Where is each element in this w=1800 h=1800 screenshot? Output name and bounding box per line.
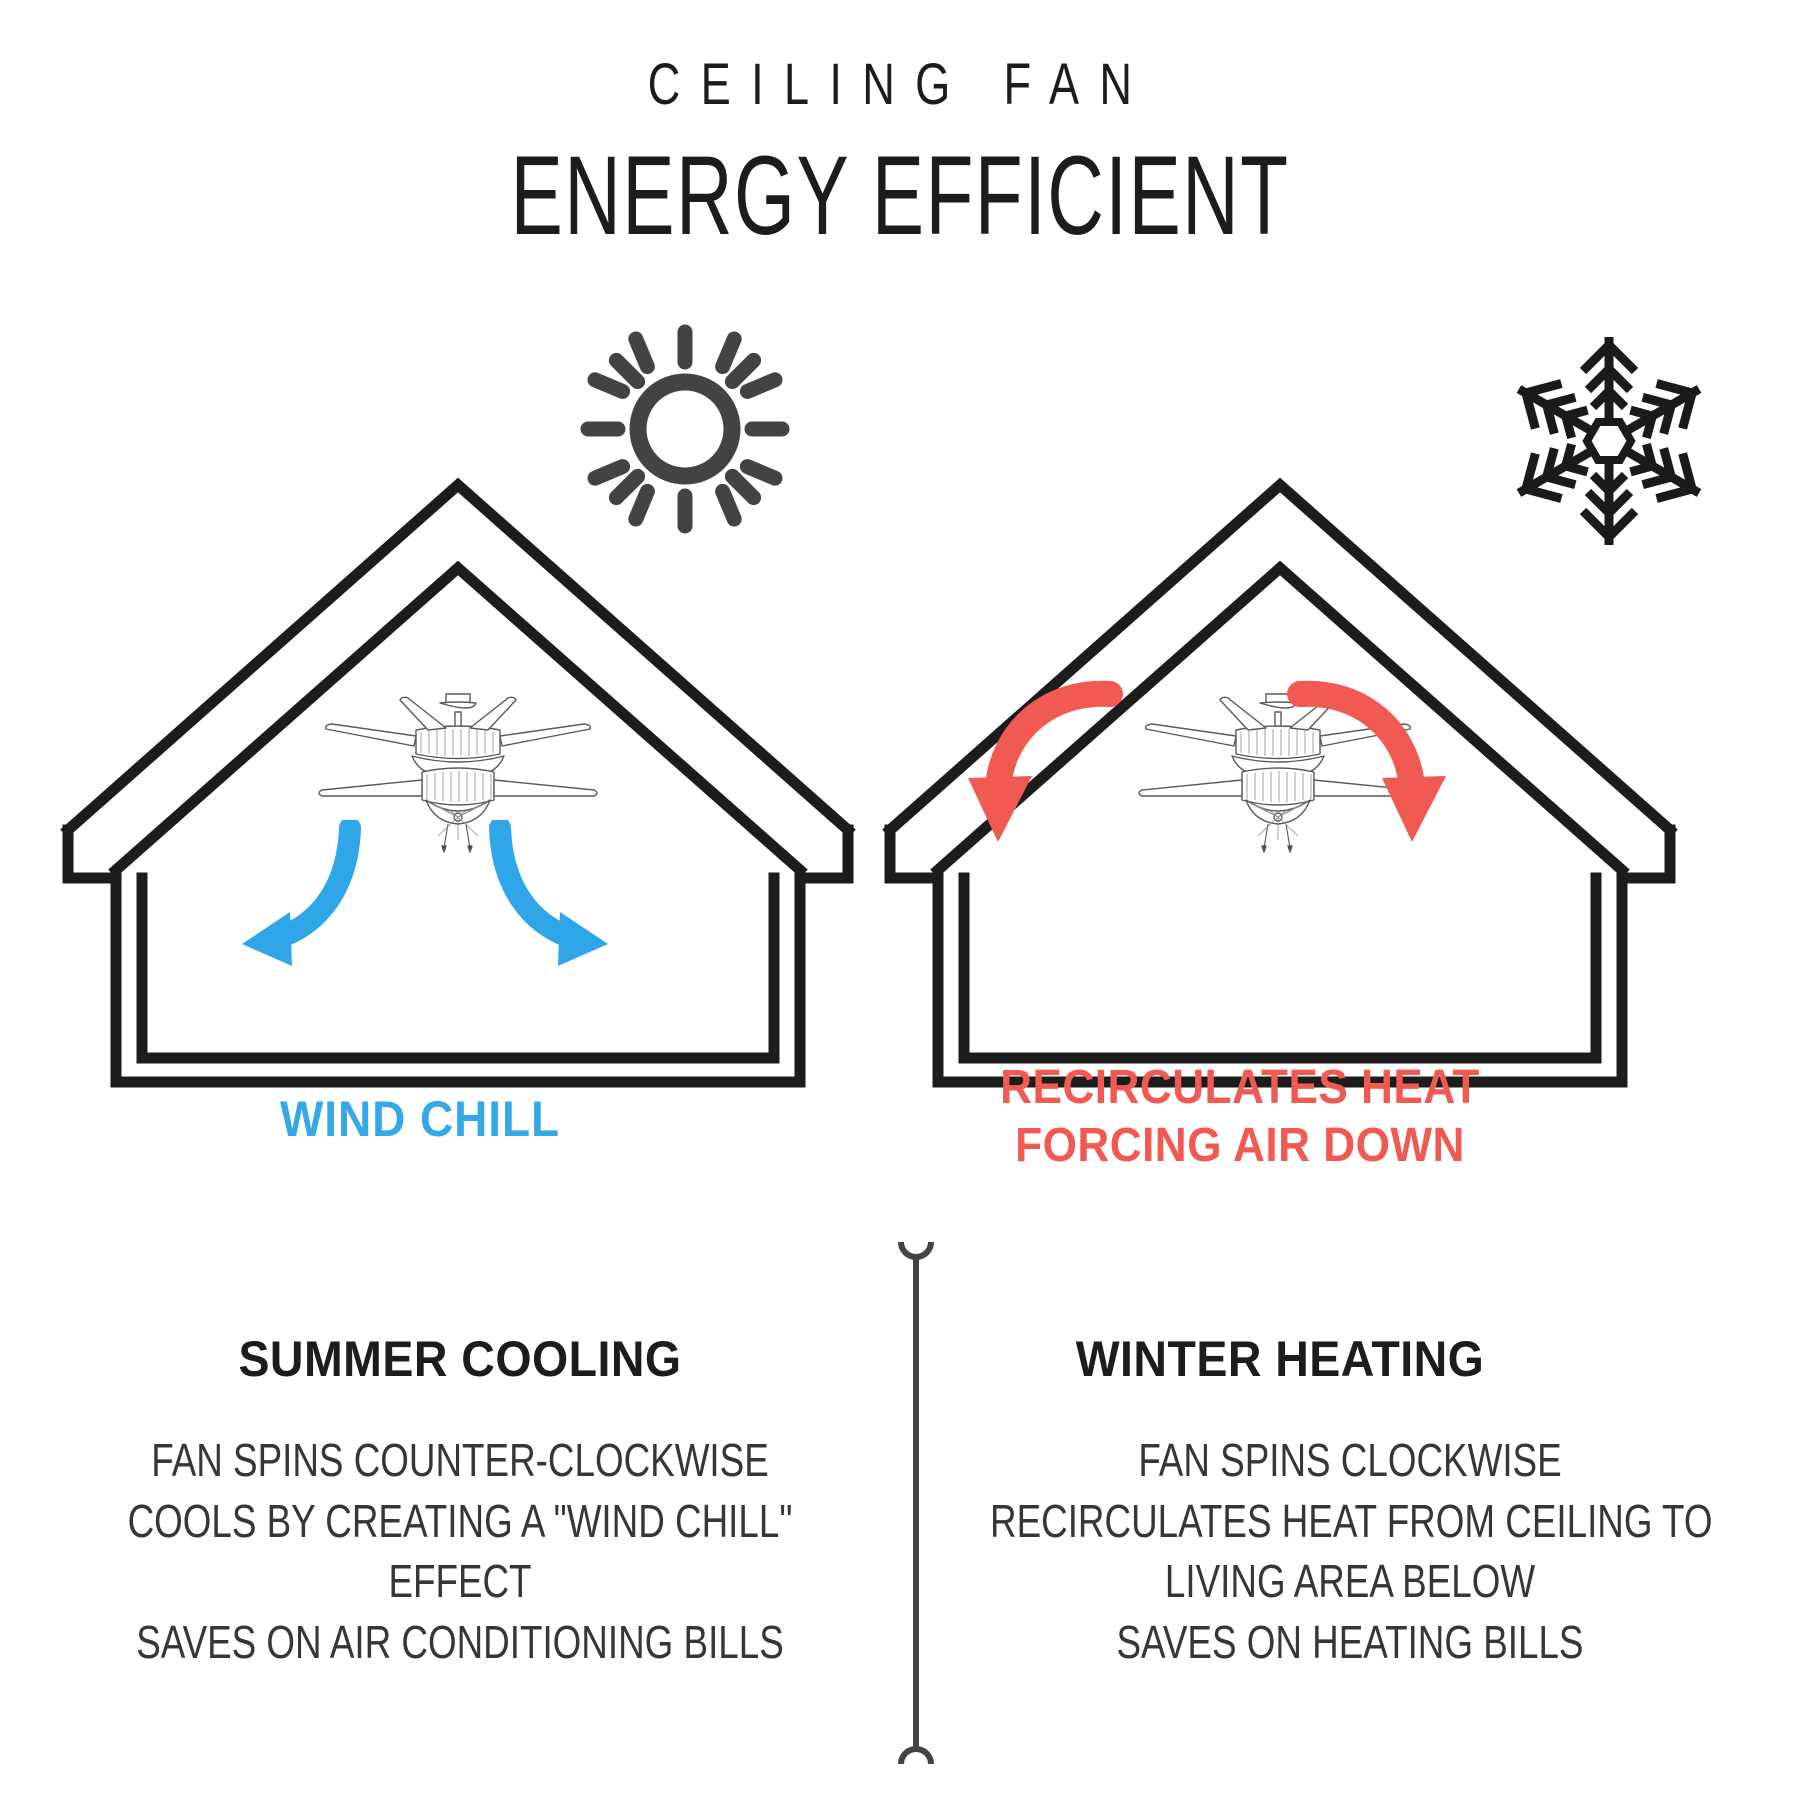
summer-callout-line-1: WIND CHILL xyxy=(280,1091,560,1147)
summer-description-line-1: FAN SPINS COUNTER-CLOCKWISE xyxy=(100,1430,820,1491)
summer-description-line-2: COOLS BY CREATING A "WIND CHILL" xyxy=(100,1491,820,1552)
winter-callout-line-1: RECIRCULATES HEAT xyxy=(1000,1061,1480,1114)
winter-callout-line-2: FORCING AIR DOWN xyxy=(964,1120,1516,1172)
summer-description-line-3: EFFECT xyxy=(100,1551,820,1612)
summer-description: FAN SPINS COUNTER-CLOCKWISE COOLS BY CRE… xyxy=(100,1430,820,1673)
winter-description-line-4: SAVES ON HEATING BILLS xyxy=(990,1612,1710,1673)
summer-section-title: SUMMER COOLING xyxy=(88,1330,832,1388)
ceiling-fan-summer-icon xyxy=(288,688,628,863)
winter-description-line-2: RECIRCULATES HEAT FROM CEILING TO xyxy=(990,1491,1710,1552)
ceiling-fan-winter-icon xyxy=(1108,688,1448,863)
column-divider xyxy=(896,1238,936,1768)
page-title: ENERGY EFFICIENT xyxy=(270,140,1530,252)
winter-description-line-3: LIVING AREA BELOW xyxy=(990,1551,1710,1612)
infographic-canvas: CEILING FAN ENERGY EFFICIENT xyxy=(0,0,1800,1800)
eyebrow-title: CEILING FAN xyxy=(198,56,1602,114)
winter-callout: RECIRCULATES HEAT FORCING AIR DOWN xyxy=(964,1062,1516,1172)
summer-description-line-4: SAVES ON AIR CONDITIONING BILLS xyxy=(100,1612,820,1673)
winter-description: FAN SPINS CLOCKWISE RECIRCULATES HEAT FR… xyxy=(990,1430,1710,1673)
title-block: CEILING FAN ENERGY EFFICIENT xyxy=(0,56,1800,252)
summer-callout: WIND CHILL xyxy=(162,1092,677,1146)
winter-section-title: WINTER HEATING xyxy=(908,1330,1652,1388)
winter-description-line-1: FAN SPINS CLOCKWISE xyxy=(990,1430,1710,1491)
